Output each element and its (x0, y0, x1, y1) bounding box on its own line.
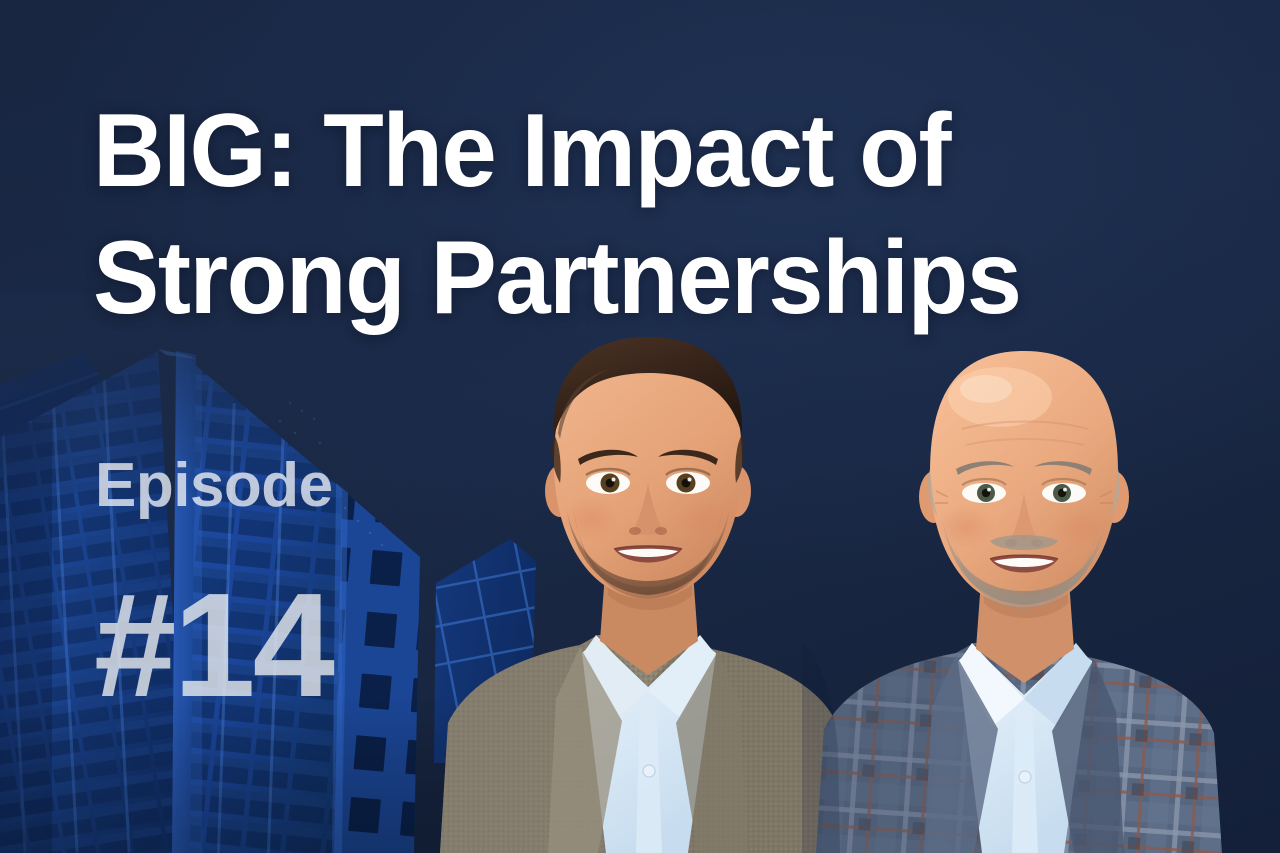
portrait-right-host (816, 351, 1222, 853)
podcast-episode-cover: BIG: The Impact of Strong Partnerships E… (0, 0, 1280, 853)
hosts-portrait-group (430, 323, 1280, 853)
page-title: BIG: The Impact of Strong Partnerships (93, 88, 1153, 342)
portrait-left-host (440, 337, 844, 853)
episode-number: #14 (94, 572, 332, 720)
episode-label: Episode (95, 455, 333, 517)
